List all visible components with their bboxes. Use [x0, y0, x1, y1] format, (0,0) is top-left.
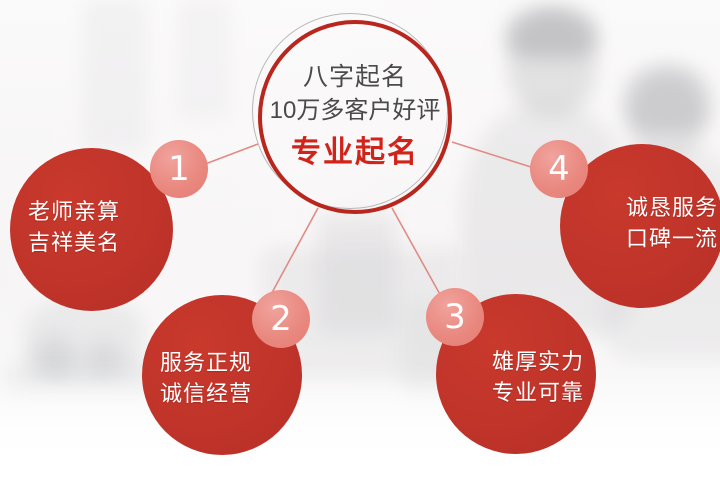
feature-node-2-line2: 诚信经营 — [160, 378, 252, 409]
background-person-hair — [624, 64, 710, 134]
background-machine-shape — [8, 364, 158, 394]
background-panel-shape — [178, 0, 230, 118]
center-highlight: 专业起名 — [291, 135, 419, 171]
feature-node-4[interactable]: 诚恳服务 口碑一流 4 — [520, 136, 720, 316]
background-person-head — [508, 12, 596, 116]
feature-node-2[interactable]: 服务正规 诚信经营 2 — [142, 290, 360, 460]
feature-node-1-badge[interactable]: 1 — [150, 140, 208, 198]
center-emblem[interactable]: 八字起名 10万多客户好评 专业起名 — [252, 13, 456, 217]
background-panel-shape — [84, 0, 146, 150]
feature-node-3-line2: 专业可靠 — [492, 377, 584, 408]
center-line-2: 10万多客户好评 — [270, 96, 441, 127]
feature-node-1-line2: 吉祥美名 — [28, 227, 120, 258]
feature-node-4-text: 诚恳服务 口碑一流 — [626, 192, 718, 254]
background-machine-wheel — [34, 336, 76, 378]
feature-node-2-text: 服务正规 诚信经营 — [160, 347, 252, 409]
feature-node-3-line1: 雄厚实力 — [492, 346, 584, 377]
infographic-canvas: 老师亲算 吉祥美名 1 服务正规 诚信经营 2 雄厚实力 专业可靠 3 诚恳 — [0, 0, 720, 493]
feature-node-4-line2: 口碑一流 — [626, 223, 718, 254]
feature-node-1-line1: 老师亲算 — [28, 196, 120, 227]
feature-node-4-badge[interactable]: 4 — [530, 140, 588, 198]
feature-node-3-text: 雄厚实力 专业可靠 — [492, 346, 584, 408]
center-line-1: 八字起名 — [303, 61, 407, 93]
connector-line-2 — [268, 208, 318, 300]
feature-node-1[interactable]: 老师亲算 吉祥美名 1 — [4, 140, 218, 315]
background-machine-wheel — [86, 340, 122, 376]
connector-line-3 — [392, 208, 442, 298]
feature-node-1-text: 老师亲算 吉祥美名 — [28, 196, 120, 258]
feature-node-2-badge[interactable]: 2 — [252, 290, 310, 348]
feature-node-2-line1: 服务正规 — [160, 347, 252, 378]
center-emblem-content: 八字起名 10万多客户好评 专业起名 — [260, 21, 450, 211]
feature-node-3-badge[interactable]: 3 — [426, 288, 484, 346]
background-person-hair — [506, 6, 598, 58]
feature-node-4-line1: 诚恳服务 — [626, 192, 718, 223]
feature-node-1-circle[interactable]: 老师亲算 吉祥美名 — [10, 148, 173, 311]
